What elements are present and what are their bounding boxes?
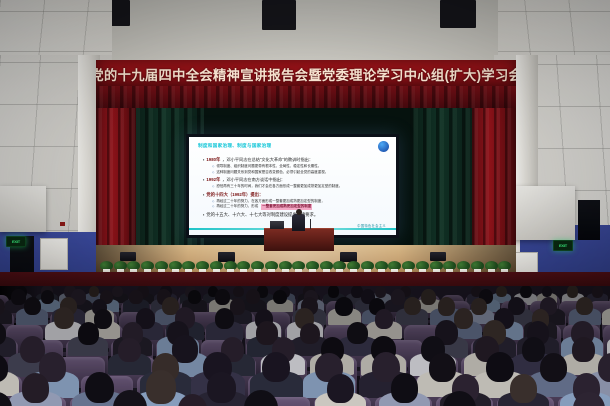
audience-member-shoulders [602, 308, 610, 325]
audience-member-head [22, 373, 50, 403]
audience-member-head [567, 286, 578, 298]
slide-bullet: ▪ 1980年 ，邓小平同志在总结“文化大革命”的教训时指出： [203, 157, 385, 163]
audience-member-head [54, 307, 74, 329]
audience-member-head [496, 286, 507, 297]
audience-member-head [41, 290, 54, 304]
auditorium-photo: EXIT EXIT 党的十九届四中全会精神宣讲报告会暨党委理论学习中心组(扩大)… [0, 0, 610, 406]
audience-member-head [328, 286, 340, 298]
bullet-year: 1992年 [206, 177, 220, 183]
audience-member-head [391, 289, 405, 304]
bullet-dot-icon: ▪ [203, 192, 204, 198]
head-table [264, 228, 334, 251]
exit-sign-right: EXIT [553, 240, 573, 251]
bullet-dot-icon: ▪ [203, 177, 204, 183]
audience-member-head [421, 289, 436, 305]
audience-member-head [572, 337, 595, 362]
audience-member-head [246, 289, 260, 304]
left-side-projection-screen [0, 186, 46, 232]
subbullet-dot-icon: ◇ [212, 184, 214, 190]
subbullet-text-pre: 再经过二十年的努力，形成 [216, 204, 259, 209]
ceiling-vent [440, 0, 476, 28]
slide-subbullet: ◇ 恐怕再有三十年的时间，我们才会在各方面形成一整套更加成熟更加定型的制度。 [212, 184, 385, 190]
audience-member-head [520, 286, 532, 298]
audience-member-head [540, 353, 567, 382]
audience-member-head [89, 286, 99, 297]
audience-member-head [118, 338, 141, 362]
subbullet-text: 这种制度问题关系到党和国家是否改变颜色，必须引起全党的高度重视。 [216, 170, 328, 175]
slide-footer-text: 中国特色社会主义 [357, 223, 386, 228]
audience-member-head [78, 322, 99, 345]
bullet-text: ，邓小平同志在总结“文化大革命”的教训时指出： [222, 157, 313, 163]
audience-member-head [327, 374, 354, 403]
left-fire-alarm [60, 222, 65, 226]
audience-member-head [112, 286, 123, 297]
audience-member-head [576, 297, 593, 315]
audience-member-head [510, 374, 537, 403]
right-exit-door[interactable] [578, 200, 600, 240]
audience-member-head [215, 308, 235, 329]
audience-member-head [454, 308, 473, 328]
slide-bullet: ▪ 1992年 ，邓小平同志在南方谈话中指出： [203, 177, 385, 183]
exit-sign-label: EXIT [559, 243, 567, 248]
bullet-text: ，邓小平同志在南方谈话中指出： [222, 177, 285, 183]
audience-member-head [85, 372, 114, 403]
audience-member-head [347, 322, 367, 344]
audience-member-head [273, 290, 287, 305]
stage-curtain-valance [96, 86, 516, 108]
audience-member-head [438, 297, 456, 316]
audience-member-head [486, 352, 514, 383]
laptop-on-table [270, 221, 284, 229]
slide-highlight: 一整套更加成熟更加定型的制度 [261, 204, 312, 209]
audience-member-head [207, 372, 235, 403]
ceiling-vent [262, 0, 296, 30]
speaker-head [296, 209, 302, 215]
slide-body: ▪ 1980年 ，邓小平同志在总结“文化大革命”的教训时指出： ◇ 领导制度、组… [203, 157, 385, 219]
blue-circle-logo [378, 141, 389, 152]
audience-member-head [233, 286, 244, 297]
audience-member-head [429, 353, 456, 382]
bullet-year: 1980年 [206, 157, 220, 163]
subbullet-text: 恐怕再有三十年的时间，我们才会在各方面形成一整套更加成熟更加定型的制度。 [216, 184, 342, 189]
audience-member-head [391, 373, 418, 402]
left-notice-board [40, 238, 68, 270]
speaker-body [292, 214, 305, 231]
bullet-dot-icon: ▪ [203, 212, 204, 218]
microphone [310, 219, 311, 229]
subbullet-text: 领导制度、组织制度问题更带有根本性、全局性、稳定性和长期性。 [216, 164, 321, 169]
right-side-projection-screen [507, 186, 575, 240]
audience-member-head [215, 289, 230, 305]
audience-member-head [129, 290, 143, 305]
bullet-year: 党的十四大（1992年）提出： [206, 192, 263, 198]
bullet-dot-icon: ▪ [203, 157, 204, 163]
audience-member-head [592, 286, 603, 298]
slide-title: 制度和国家治理、制度与国家治理 [198, 143, 271, 149]
subbullet-dot-icon: ◇ [212, 204, 214, 210]
audience-member-head [300, 323, 320, 345]
subbullet-dot-icon: ◇ [212, 170, 214, 176]
audience-member-head [146, 370, 177, 403]
audience-member-head [375, 309, 394, 329]
exit-sign-label: EXIT [12, 239, 20, 244]
audience-seating [0, 286, 610, 406]
banner-text: 党的十九届四中全会精神宣讲报告会暨党委理论学习中心组(扩大)学习会 [96, 64, 516, 84]
slide-subbullet: ◇ 这种制度问题关系到党和国家是否改变颜色，必须引起全党的高度重视。 [212, 170, 385, 176]
event-banner: 党的十九届四中全会精神宣讲报告会暨党委理论学习中心组(扩大)学习会 [96, 60, 516, 88]
audience-member-head [262, 352, 290, 382]
audience-member-head [471, 298, 487, 315]
audience-member-head [375, 286, 386, 298]
audience-member-head [335, 297, 353, 316]
slide-bullet: ▪ 党的十四大（1992年）提出： [203, 192, 385, 198]
audience-member-head [404, 297, 421, 315]
audience-member-head [188, 290, 201, 304]
exit-sign-left: EXIT [6, 236, 26, 247]
audience-member-head [24, 297, 41, 315]
